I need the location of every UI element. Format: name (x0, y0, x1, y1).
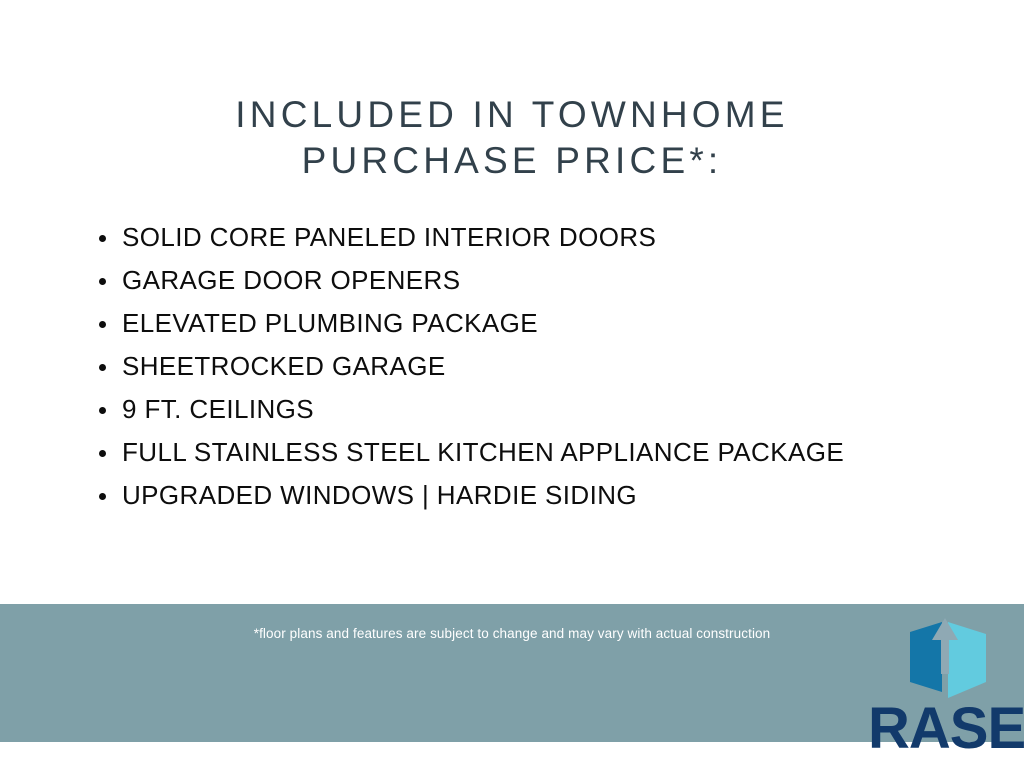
list-item: UPGRADED WINDOWS | HARDIE SIDING (96, 474, 976, 517)
bullet-dot-icon (99, 364, 106, 371)
brand-logo: RASE (868, 612, 1024, 768)
list-item-label: UPGRADED WINDOWS | HARDIE SIDING (122, 480, 637, 510)
list-item-label: 9 FT. CEILINGS (122, 394, 314, 424)
list-item: SOLID CORE PANELED INTERIOR DOORS (96, 216, 976, 259)
feature-list: SOLID CORE PANELED INTERIOR DOORS GARAGE… (96, 216, 976, 517)
house-book-upward-arrow-icon (904, 612, 992, 704)
brand-wordmark: RASE (868, 700, 1024, 758)
list-item: SHEETROCKED GARAGE (96, 345, 976, 388)
list-item-label: ELEVATED PLUMBING PACKAGE (122, 308, 538, 338)
bullet-dot-icon (99, 278, 106, 285)
list-item: FULL STAINLESS STEEL KITCHEN APPLIANCE P… (96, 431, 976, 474)
bullet-dot-icon (99, 321, 106, 328)
page-title-line-1: INCLUDED IN TOWNHOME (0, 92, 1024, 138)
bullet-dot-icon (99, 235, 106, 242)
list-item-label: GARAGE DOOR OPENERS (122, 265, 460, 295)
slide-canvas: INCLUDED IN TOWNHOME PURCHASE PRICE*: SO… (0, 0, 1024, 768)
page-title-line-2: PURCHASE PRICE*: (0, 138, 1024, 184)
bullet-dot-icon (99, 450, 106, 457)
list-item: ELEVATED PLUMBING PACKAGE (96, 302, 976, 345)
page-title: INCLUDED IN TOWNHOME PURCHASE PRICE*: (0, 92, 1024, 184)
list-item: GARAGE DOOR OPENERS (96, 259, 976, 302)
bullet-dot-icon (99, 407, 106, 414)
list-item-label: SHEETROCKED GARAGE (122, 351, 446, 381)
list-item-label: SOLID CORE PANELED INTERIOR DOORS (122, 222, 656, 252)
list-item-label: FULL STAINLESS STEEL KITCHEN APPLIANCE P… (122, 437, 844, 467)
bullet-dot-icon (99, 493, 106, 500)
list-item: 9 FT. CEILINGS (96, 388, 976, 431)
